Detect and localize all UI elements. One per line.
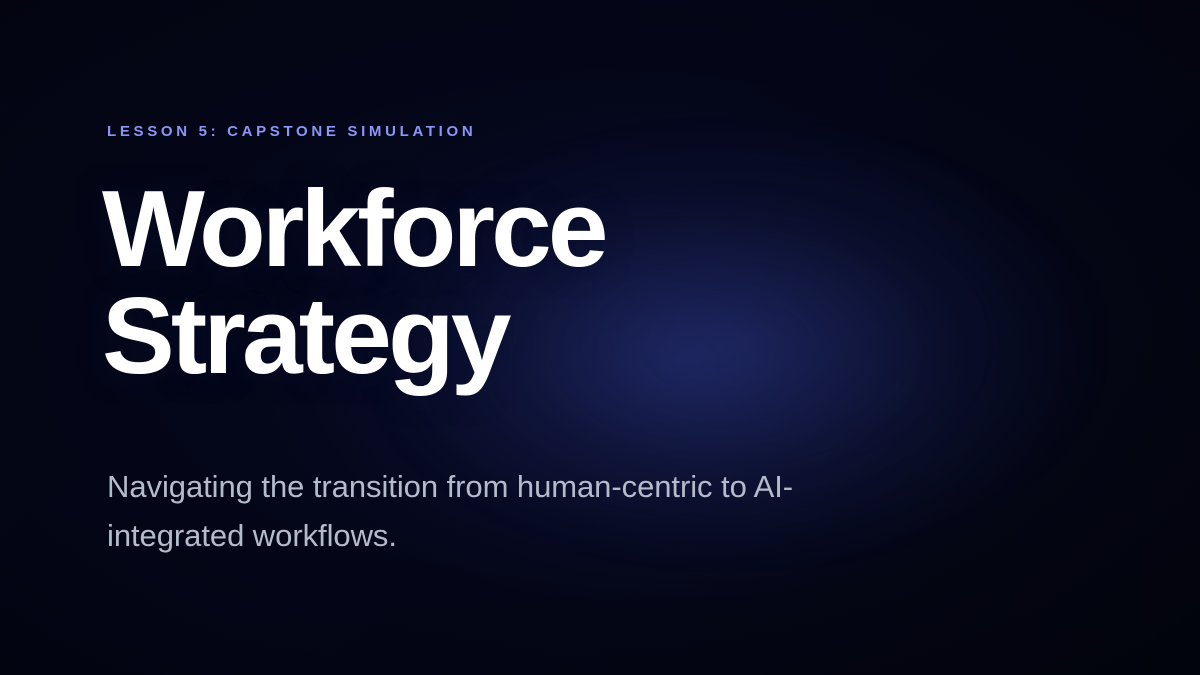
slide-title-line-2: Strategy [102, 283, 802, 390]
title-slide: LESSON 5: CAPSTONE SIMULATION Workforce … [0, 0, 1200, 675]
slide-subtitle: Navigating the transition from human-cen… [107, 463, 837, 560]
lesson-eyebrow-label: LESSON 5: CAPSTONE SIMULATION [107, 124, 476, 139]
slide-title: Workforce Strategy [102, 176, 802, 391]
slide-title-line-1: Workforce [102, 176, 802, 283]
slide-content: LESSON 5: CAPSTONE SIMULATION Workforce … [107, 0, 1107, 675]
